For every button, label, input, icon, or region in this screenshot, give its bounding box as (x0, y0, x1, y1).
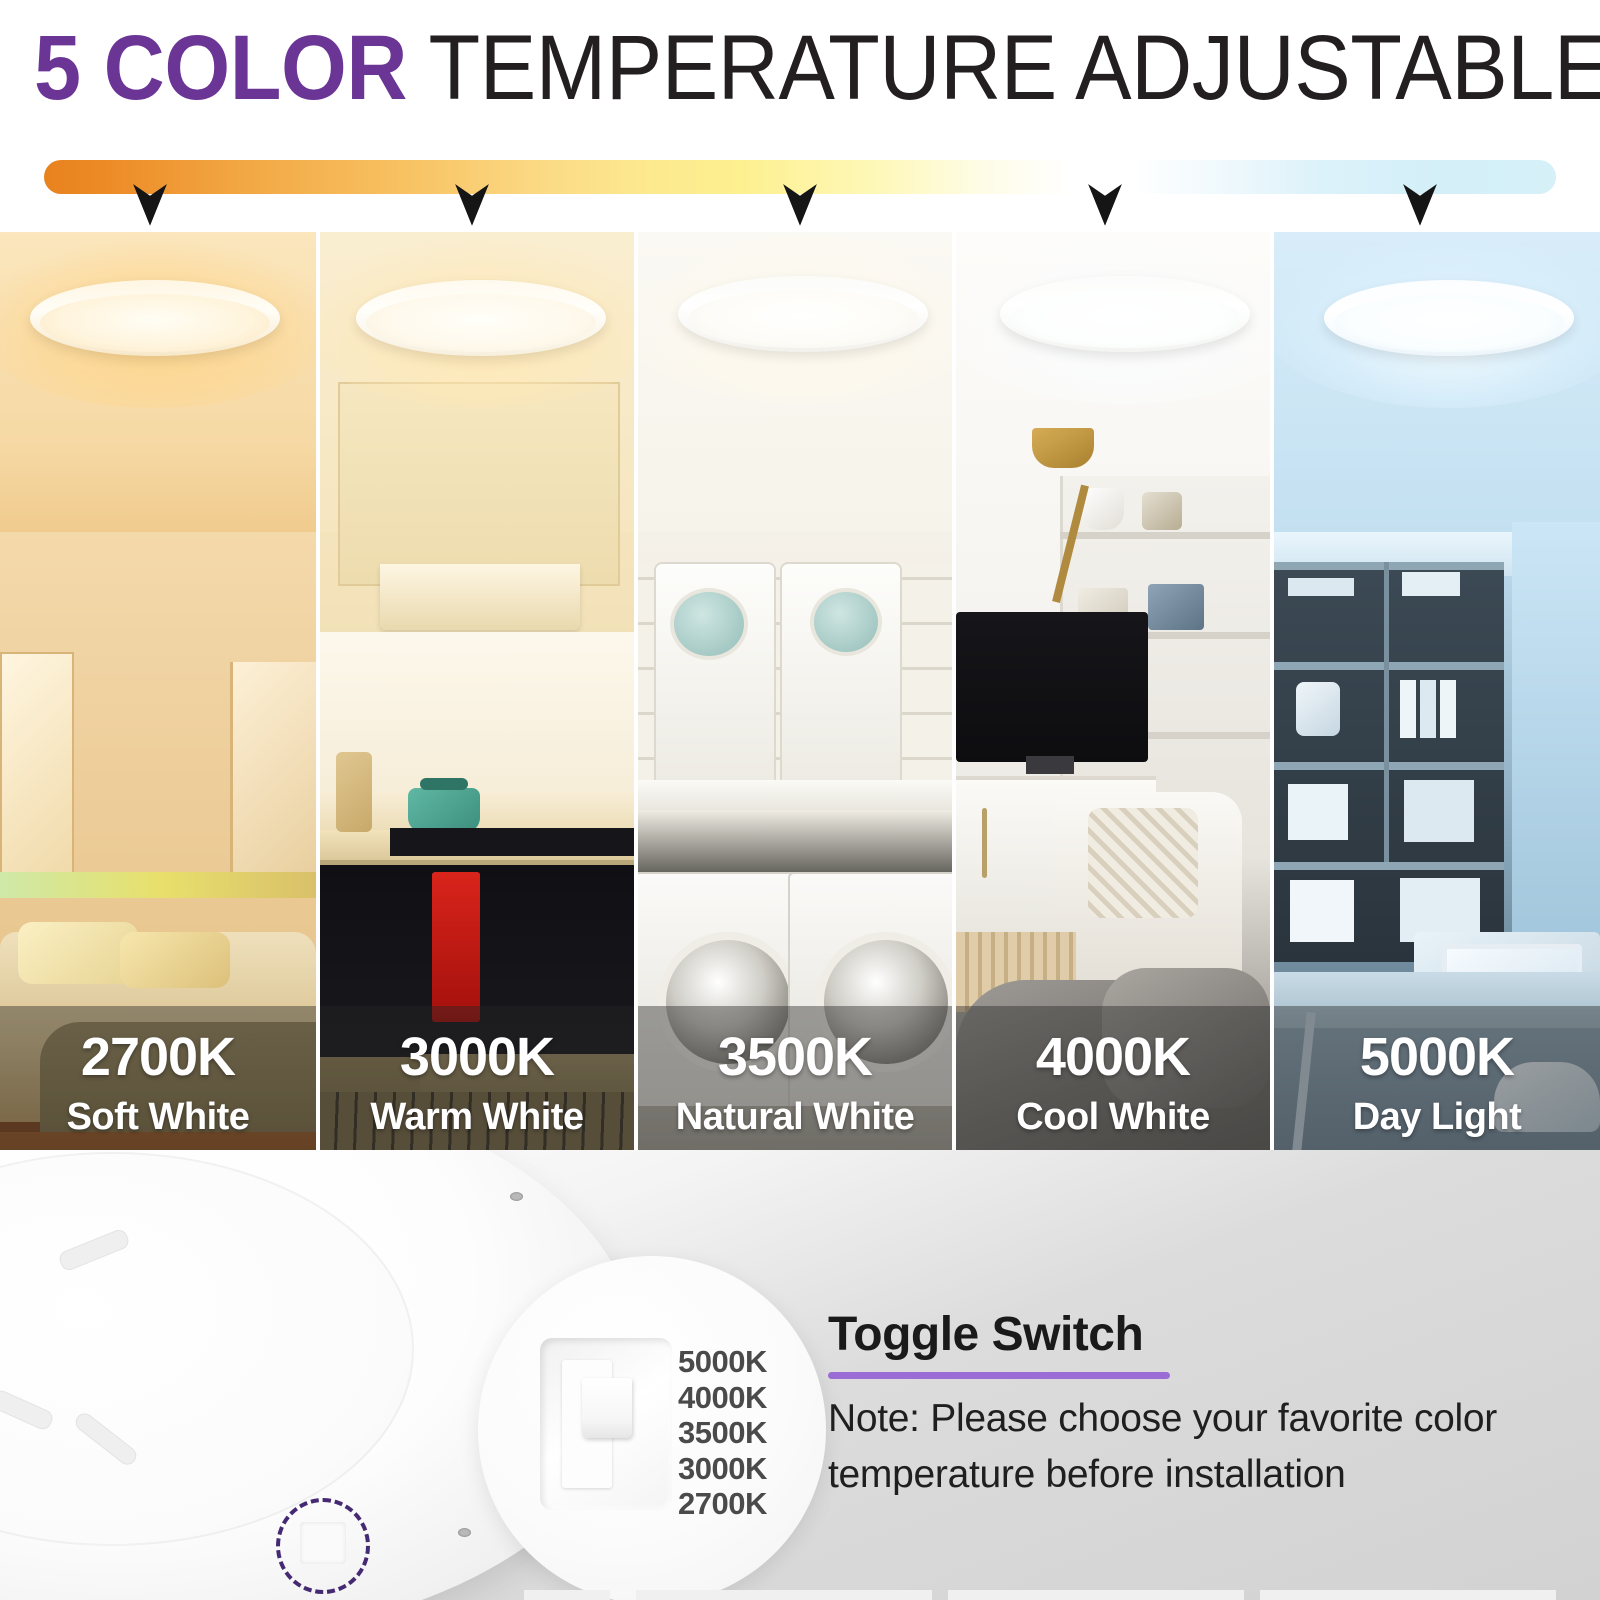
panel-tone-name: Cool White (956, 1096, 1270, 1138)
toggle-note-block: Toggle Switch Note: Please choose your f… (828, 1308, 1528, 1503)
next-section-cards (0, 1590, 1600, 1600)
ceiling-lamp-2700k (30, 280, 280, 356)
color-temperature-gradient-bar (44, 160, 1556, 194)
toggle-switch-section: 5000K 4000K 3500K 3000K 2700K Toggle Swi… (0, 1150, 1600, 1600)
scene-panel-2700k: 2700K Soft White (0, 232, 316, 1196)
panel-kelvin-value: 3500K (638, 1028, 952, 1086)
dip-temperature-list: 5000K 4000K 3500K 3000K 2700K (678, 1344, 818, 1522)
panel-tone-name: Soft White (0, 1096, 316, 1138)
ceiling-lamp-4000k (1000, 276, 1250, 352)
screw (510, 1192, 523, 1201)
ceiling-lamp-5000k (1324, 280, 1574, 356)
dip-label-3000k: 3000K (678, 1451, 818, 1487)
header: 5 COLOR TEMPERATURE ADJUSTABLE (0, 0, 1600, 230)
next-section-card (948, 1590, 1244, 1600)
panel-tone-name: Day Light (1274, 1096, 1600, 1138)
switch-highlight-ring-icon (276, 1498, 370, 1594)
dip-label-5000k: 5000K (678, 1344, 818, 1380)
page-title-rest: TEMPERATURE ADJUSTABLE (407, 17, 1600, 119)
switch-body[interactable] (562, 1360, 612, 1488)
next-section-card (636, 1590, 932, 1600)
panel-kelvin-value: 5000K (1274, 1028, 1600, 1086)
switch-zoom-callout: 5000K 4000K 3500K 3000K 2700K (478, 1256, 826, 1600)
scene-panel-4000k: 4000K Cool White (956, 232, 1270, 1196)
next-section-card (1260, 1590, 1556, 1600)
dip-label-4000k: 4000K (678, 1380, 818, 1416)
dip-label-3500k: 3500K (678, 1415, 818, 1451)
scene-panel-3500k: 3500K Natural White (638, 232, 952, 1196)
next-section-card (524, 1590, 610, 1600)
switch-lever[interactable] (582, 1378, 632, 1438)
switch-recess (540, 1338, 672, 1510)
panel-tone-name: Warm White (320, 1096, 634, 1138)
screw (458, 1528, 471, 1537)
toggle-note-text: Note: Please choose your favorite color … (828, 1391, 1528, 1503)
toggle-switch-heading: Toggle Switch (828, 1308, 1528, 1362)
scene-panel-5000k: 5000K Day Light (1274, 232, 1600, 1196)
ceiling-lamp-3500k (678, 276, 928, 352)
panel-tone-name: Natural White (638, 1096, 952, 1138)
page-title-accent: 5 COLOR (34, 17, 407, 119)
panel-kelvin-value: 3000K (320, 1028, 634, 1086)
ceiling-lamp-3000k (356, 280, 606, 356)
panel-kelvin-value: 4000K (956, 1028, 1270, 1086)
heading-underline (828, 1372, 1170, 1379)
fixture-inner-ring (0, 1152, 414, 1546)
scene-panel-strip: 2700K Soft White (0, 232, 1600, 1196)
dip-label-2700k: 2700K (678, 1486, 818, 1522)
page-title: 5 COLOR TEMPERATURE ADJUSTABLE (34, 22, 1451, 114)
panel-kelvin-value: 2700K (0, 1028, 316, 1086)
scene-panel-3000k: 3000K Warm White (320, 232, 634, 1196)
